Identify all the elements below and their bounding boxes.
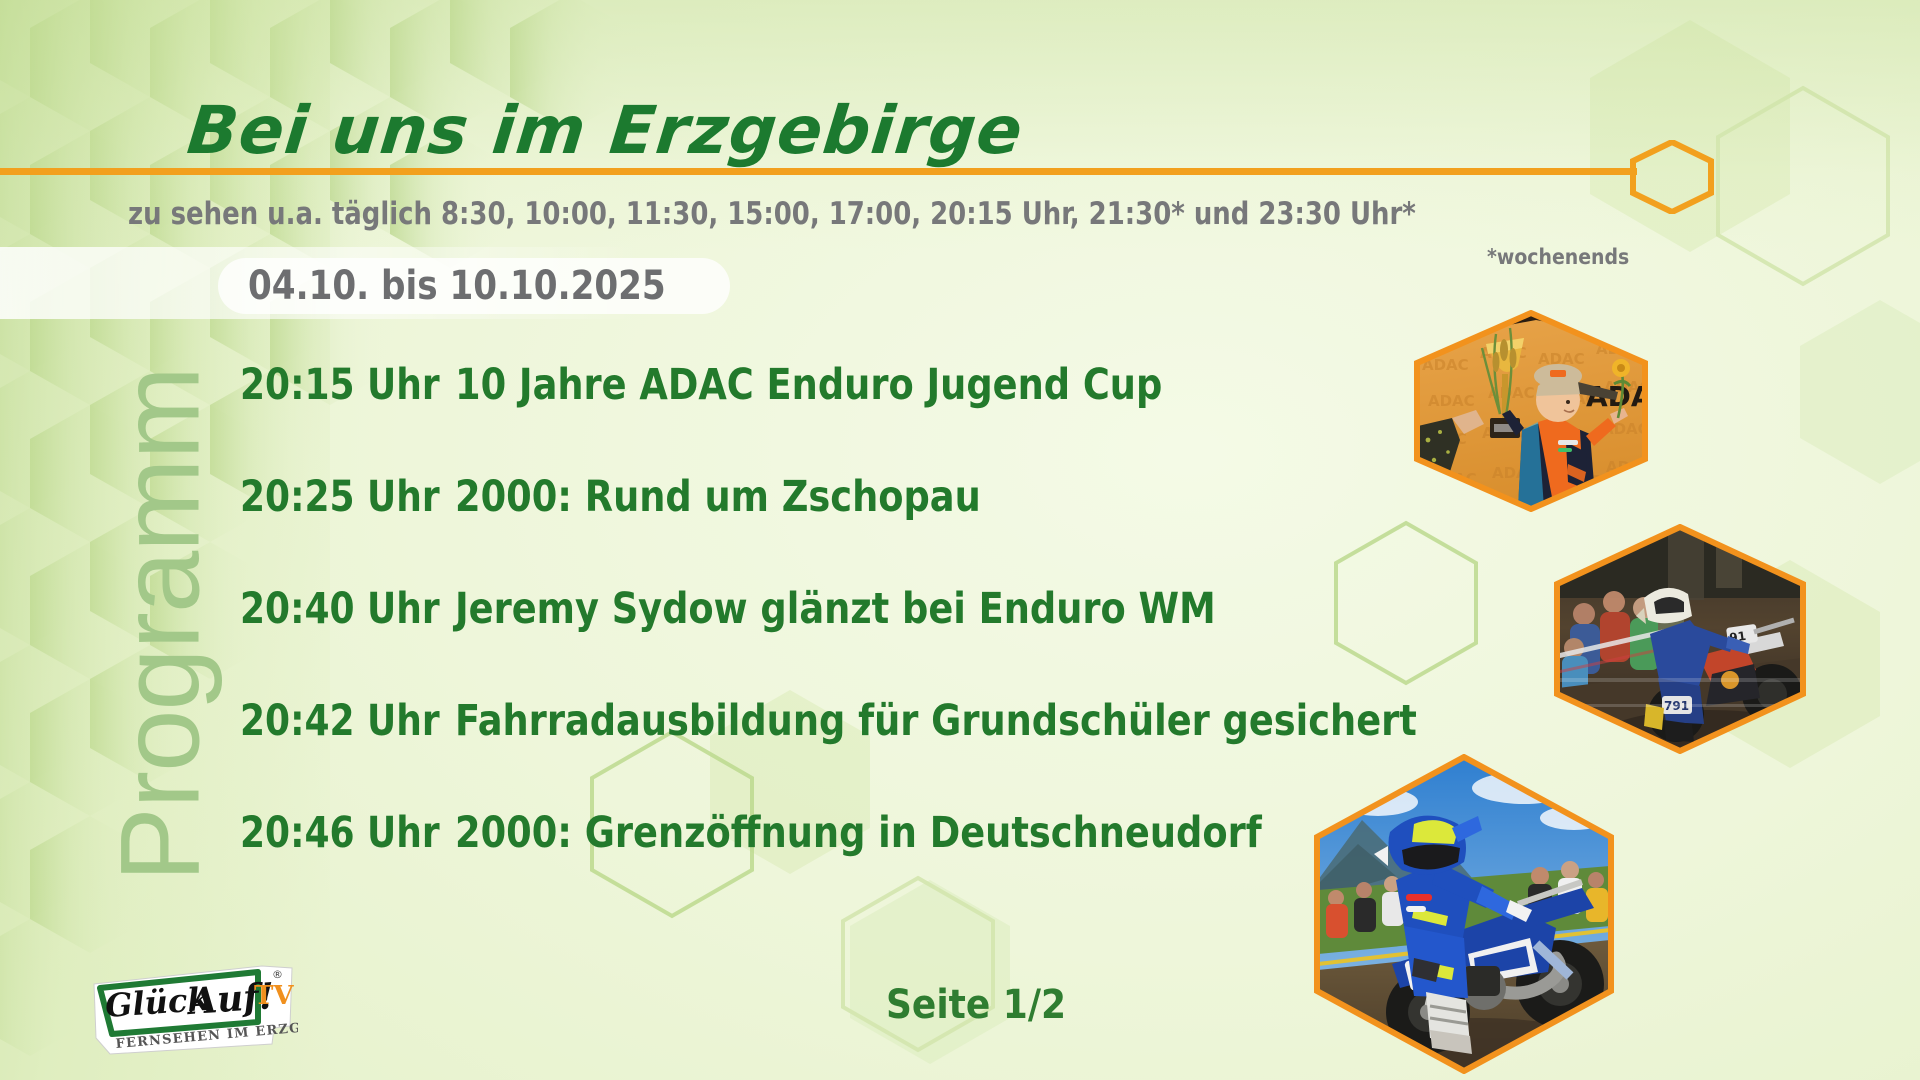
photo-archiv-enduro-rennen-zschopau-image: 91 791 bbox=[1558, 528, 1802, 750]
program-row-time: 20:25 Uhr bbox=[240, 472, 440, 522]
program-row-title: Jeremy Sydow glänzt bei Enduro WM bbox=[455, 584, 1216, 634]
svg-text:ADAC: ADAC bbox=[1428, 392, 1475, 410]
svg-text:ADAC: ADAC bbox=[1430, 470, 1477, 488]
program-row[interactable]: 20:40 Uhr Jeremy Sydow glänzt bei Enduro… bbox=[240, 584, 1420, 696]
svg-text:TV: TV bbox=[254, 981, 294, 1011]
broadcast-times-line: zu sehen u.a. täglich 8:30, 10:00, 11:30… bbox=[128, 196, 1416, 232]
photo-adac-jugend-cup-winner[interactable]: ADACADAC ADACADAC ADACADAC ADACADAC ADAC… bbox=[1418, 314, 1644, 508]
section-label-programm: Programm bbox=[96, 275, 225, 975]
page-indicator: Seite 1/2 bbox=[886, 982, 1066, 1028]
header-rule-hexagon-icon bbox=[1630, 140, 1714, 214]
glueckauf-tv-logo: Glück Auf! TV ® FERNSEHEN IM ERZGEBIRGE bbox=[86, 962, 298, 1056]
svg-text:ADAC: ADAC bbox=[1596, 340, 1643, 358]
program-row-time: 20:46 Uhr bbox=[240, 808, 440, 858]
photo-adac-jugend-cup-winner-image: ADACADAC ADACADAC ADACADAC ADACADAC ADAC… bbox=[1418, 314, 1644, 508]
program-row-title: Fahrradausbildung für Grundschüler gesic… bbox=[455, 696, 1417, 746]
weekend-footnote: *wochenends bbox=[1487, 245, 1629, 269]
svg-text:ADAC: ADAC bbox=[1606, 458, 1644, 476]
program-list: 20:15 Uhr 10 Jahre ADAC Enduro Jugend Cu… bbox=[240, 360, 1420, 920]
program-row-time: 20:40 Uhr bbox=[240, 584, 440, 634]
program-row-title: 2000: Rund um Zschopau bbox=[455, 472, 981, 522]
svg-text:ADAC: ADAC bbox=[1422, 356, 1469, 374]
date-range-badge: 04.10. bis 10.10.2025 bbox=[218, 258, 730, 314]
program-row-title: 2000: Grenzöffnung in Deutschneudorf bbox=[455, 808, 1262, 858]
program-row[interactable]: 20:25 Uhr 2000: Rund um Zschopau bbox=[240, 472, 1420, 584]
photo-archiv-enduro-rennen-zschopau[interactable]: 91 791 bbox=[1558, 528, 1802, 750]
program-row[interactable]: 20:46 Uhr 2000: Grenzöffnung in Deutschn… bbox=[240, 808, 1420, 920]
program-row[interactable]: 20:15 Uhr 10 Jahre ADAC Enduro Jugend Cu… bbox=[240, 360, 1420, 472]
page-title: Bei uns im Erzgebirge bbox=[184, 92, 1027, 169]
program-row[interactable]: 20:42 Uhr Fahrradausbildung für Grundsch… bbox=[240, 696, 1420, 808]
broadcast-program-slide: Bei uns im Erzgebirge zu sehen u.a. tägl… bbox=[0, 0, 1920, 1080]
program-row-time: 20:15 Uhr bbox=[240, 360, 440, 410]
program-row-time: 20:42 Uhr bbox=[240, 696, 440, 746]
date-range-label: 04.10. bis 10.10.2025 bbox=[248, 263, 666, 309]
header-divider-rule bbox=[0, 168, 1637, 175]
svg-text:®: ® bbox=[272, 968, 283, 981]
program-row-title: 10 Jahre ADAC Enduro Jugend Cup bbox=[455, 360, 1162, 410]
